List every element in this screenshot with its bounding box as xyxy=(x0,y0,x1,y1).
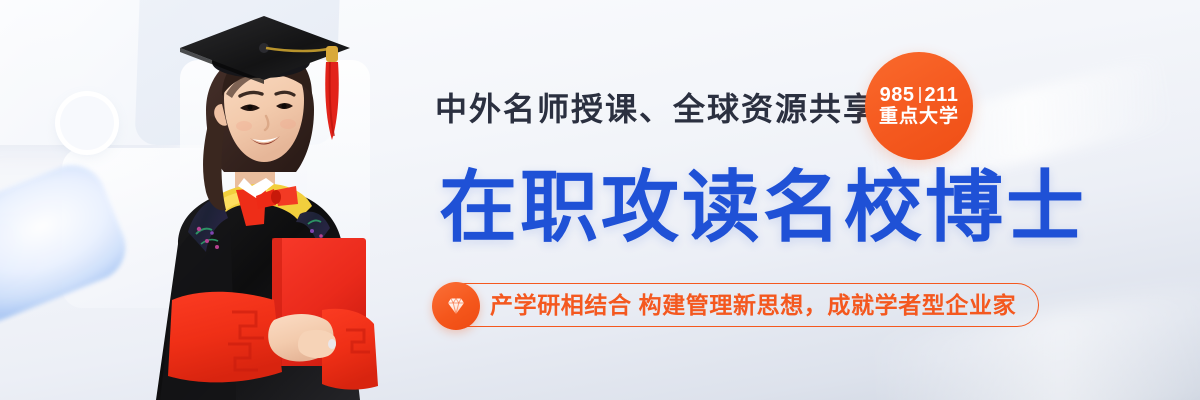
bg-blue-glow-core xyxy=(0,212,43,330)
badge-985-211: 985 211 重点大学 xyxy=(865,52,973,160)
banner-tagline-text: 产学研相结合 构建管理新思想，成就学者型企业家 xyxy=(490,294,1016,317)
promo-banner: 中外名师授课、全球资源共享 985 211 重点大学 在职攻读名校博士 xyxy=(0,0,1200,400)
badge-circle: 985 211 重点大学 xyxy=(865,52,973,160)
subhead-row: 中外名师授课、全球资源共享 xyxy=(435,93,877,125)
badge-divider xyxy=(919,87,921,103)
badge-line-2: 重点大学 xyxy=(879,106,959,128)
banner-title: 在职攻读名校博士 xyxy=(439,168,1087,246)
badge-211: 211 xyxy=(925,85,959,106)
badge-line-1: 985 211 xyxy=(880,85,959,106)
graduate-student-photo xyxy=(60,0,440,400)
banner-subhead: 中外名师授课、全球资源共享 xyxy=(435,93,877,125)
banner-content: 中外名师授课、全球资源共享 985 211 重点大学 在职攻读名校博士 xyxy=(435,0,1035,400)
diamond-icon xyxy=(432,282,480,330)
banner-tagline-pill: 产学研相结合 构建管理新思想，成就学者型企业家 xyxy=(443,283,1039,327)
badge-985: 985 xyxy=(880,85,915,106)
